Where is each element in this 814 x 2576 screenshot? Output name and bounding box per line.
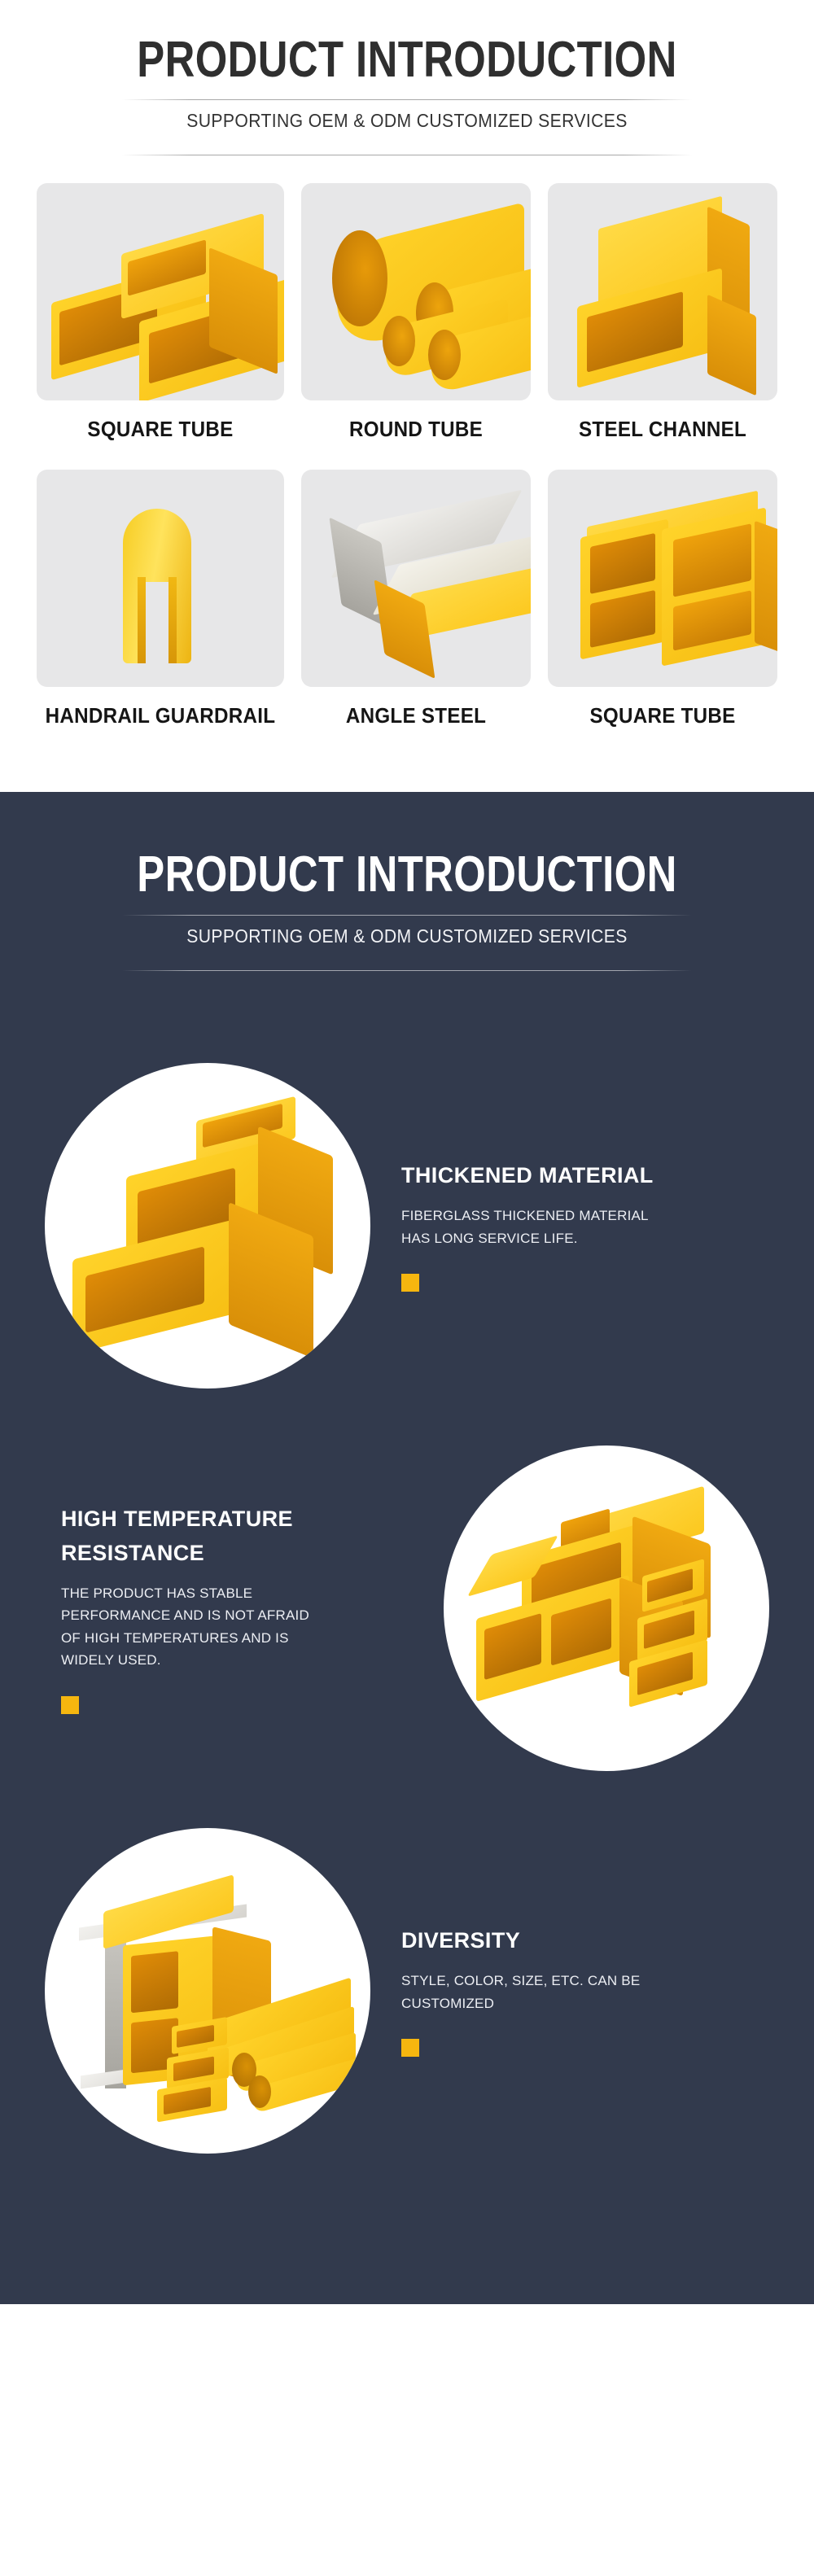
- angle-steel-photo: [301, 470, 531, 687]
- feature-body: STYLE, COLOR, SIZE, ETC. CAN BE CUSTOMIZ…: [401, 1970, 670, 2014]
- feature-media: [28, 1063, 387, 1389]
- feature-text: THICKENED MATERIAL FIBERGLASS THICKENED …: [387, 1159, 786, 1292]
- stepped-square-tubes-photo: [45, 1063, 370, 1389]
- feature-diversity: DIVERSITY STYLE, COLOR, SIZE, ETC. CAN B…: [28, 1800, 786, 2182]
- product-card-label: ANGLE STEEL: [309, 687, 523, 750]
- stacked-rectangular-tubes-photo: [444, 1445, 769, 1771]
- square-tube-stack-photo: [37, 183, 284, 400]
- feature-text: DIVERSITY STYLE, COLOR, SIZE, ETC. CAN B…: [387, 1924, 786, 2057]
- feature-title: DIVERSITY: [401, 1924, 779, 1958]
- title-divider-bottom: [122, 155, 692, 155]
- product-card-label: SQUARE TUBE: [556, 687, 769, 750]
- page-subtitle-dark: SUPPORTING OEM & ODM CUSTOMIZED SERVICES: [33, 916, 781, 957]
- feature-high-temperature-resistance: HIGH TEMPERATURE RESISTANCE THE PRODUCT …: [28, 1417, 786, 1800]
- product-grid: SQUARE TUBE ROUND TUBE: [37, 183, 777, 750]
- dark-section-header: PRODUCT INTRODUCTION SUPPORTING OEM & OD…: [0, 849, 814, 970]
- square-tube-multi-cell-photo: [548, 470, 777, 687]
- product-card-round-tube[interactable]: ROUND TUBE: [301, 183, 531, 463]
- accent-square-icon: [401, 1274, 419, 1292]
- feature-title: THICKENED MATERIAL: [401, 1159, 779, 1193]
- page-title-dark: PRODUCT INTRODUCTION: [73, 849, 741, 901]
- product-card-label: STEEL CHANNEL: [556, 400, 769, 463]
- page-title: PRODUCT INTRODUCTION: [73, 34, 741, 86]
- steel-channel-photo: [548, 183, 777, 400]
- feature-body: THE PRODUCT HAS STABLE PERFORMANCE AND I…: [61, 1582, 330, 1672]
- product-card-label: SQUARE TUBE: [46, 400, 276, 463]
- page-subtitle: SUPPORTING OEM & ODM CUSTOMIZED SERVICES: [33, 100, 781, 142]
- light-section-header: PRODUCT INTRODUCTION SUPPORTING OEM & OD…: [0, 34, 814, 155]
- product-introduction-light-section: PRODUCT INTRODUCTION SUPPORTING OEM & OD…: [0, 0, 814, 792]
- feature-body: FIBERGLASS THICKENED MATERIAL HAS LONG S…: [401, 1205, 670, 1249]
- product-card-handrail-guardrail[interactable]: HANDRAIL GUARDRAIL: [37, 470, 284, 750]
- product-card-label: ROUND TUBE: [309, 400, 523, 463]
- feature-title: HIGH TEMPERATURE RESISTANCE: [61, 1502, 413, 1571]
- feature-thickened-material: THICKENED MATERIAL FIBERGLASS THICKENED …: [28, 1034, 786, 1417]
- title-divider-bottom-dark: [122, 970, 692, 971]
- ibeam-and-profiles-photo: [45, 1828, 370, 2154]
- accent-square-icon: [61, 1696, 79, 1714]
- product-card-square-tube[interactable]: SQUARE TUBE: [37, 183, 284, 463]
- product-card-label: HANDRAIL GUARDRAIL: [46, 687, 276, 750]
- product-card-square-tube-multicell[interactable]: SQUARE TUBE: [548, 470, 777, 750]
- feature-media: [427, 1445, 786, 1771]
- feature-text: HIGH TEMPERATURE RESISTANCE THE PRODUCT …: [28, 1502, 427, 1714]
- accent-square-icon: [401, 2039, 419, 2057]
- product-card-angle-steel[interactable]: ANGLE STEEL: [301, 470, 531, 750]
- round-tube-bundle-photo: [301, 183, 531, 400]
- handrail-guardrail-photo: [37, 470, 284, 687]
- product-card-steel-channel[interactable]: STEEL CHANNEL: [548, 183, 777, 463]
- product-introduction-dark-section: PRODUCT INTRODUCTION SUPPORTING OEM & OD…: [0, 792, 814, 2303]
- feature-media: [28, 1828, 387, 2154]
